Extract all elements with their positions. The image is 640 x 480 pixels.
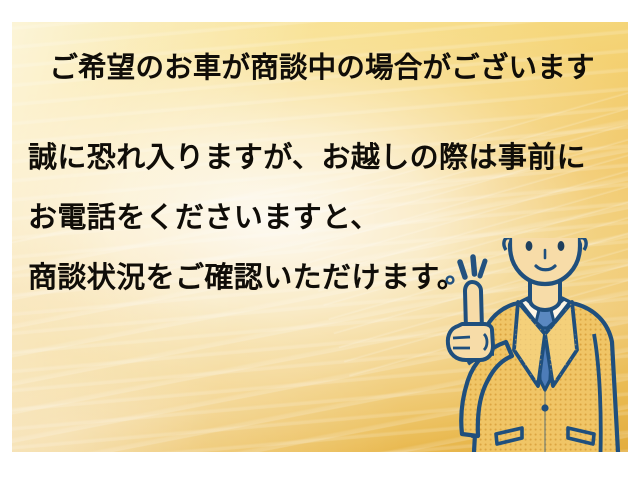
notice-body-line-3: 商談状況をご確認いただけます。 (28, 264, 608, 294)
notice-body-line-1: 誠に恐れ入りますが、お越しの際は事前に (28, 144, 608, 174)
poster-canvas: ご希望のお車が商談中の場合がございます 誠に恐れ入りますが、お越しの際は事前に … (0, 0, 640, 480)
figure-lapels (514, 302, 577, 386)
figure-tie (536, 310, 554, 390)
figure-suit (474, 298, 618, 452)
notice-body-line-2: お電話をくださいますと、 (28, 204, 608, 234)
figure-raised-arm (461, 342, 512, 436)
notice-headline: ご希望のお車が商談中の場合がございます (42, 54, 602, 83)
figure-jacket-details (473, 334, 601, 452)
notice-body: 誠に恐れ入りますが、お越しの際は事前に お電話をくださいますと、 商談状況をご確… (28, 144, 608, 294)
figure-shirt (520, 298, 570, 334)
gold-notice-banner: ご希望のお車が商談中の場合がございます 誠に恐れ入りますが、お越しの際は事前に … (12, 22, 628, 452)
